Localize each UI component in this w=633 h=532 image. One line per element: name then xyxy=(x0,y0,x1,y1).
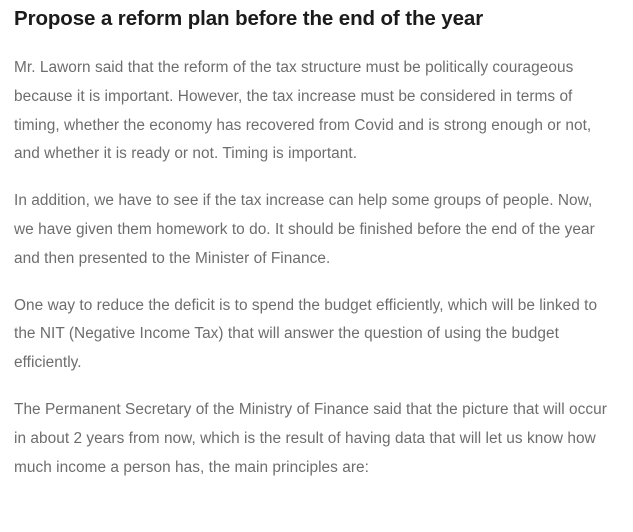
article-paragraph: The Permanent Secretary of the Ministry … xyxy=(14,396,610,482)
article-paragraph: In addition, we have to see if the tax i… xyxy=(14,187,610,273)
article-body: Mr. Laworn said that the reform of the t… xyxy=(14,54,613,482)
article-paragraph: One way to reduce the deficit is to spen… xyxy=(14,292,610,378)
article-paragraph: Mr. Laworn said that the reform of the t… xyxy=(14,54,610,169)
page-title: Propose a reform plan before the end of … xyxy=(14,6,613,32)
article-container: Propose a reform plan before the end of … xyxy=(0,0,633,532)
